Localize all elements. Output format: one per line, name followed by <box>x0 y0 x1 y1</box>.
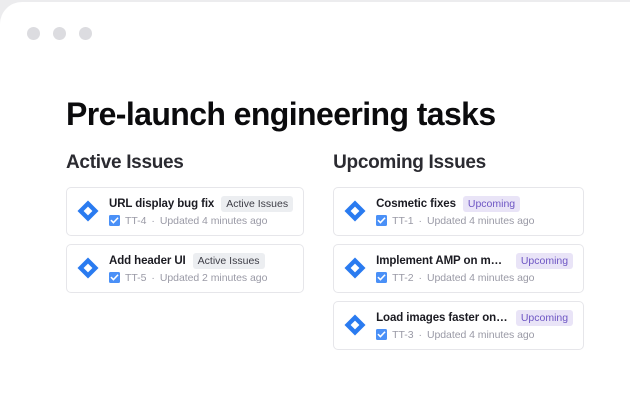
issue-card-header: Add header UIActive Issues <box>109 253 293 269</box>
checkbox-checked-icon[interactable] <box>376 215 387 226</box>
issue-card-meta: TT-3·Updated 4 minutes ago <box>376 329 573 341</box>
column-title: Active Issues <box>66 152 304 175</box>
issue-updated-time: Updated 2 minutes ago <box>160 272 268 284</box>
issue-card-body: Implement AMP on mobile...UpcomingTT-2·U… <box>376 253 573 284</box>
issue-key[interactable]: TT-4 <box>125 215 146 227</box>
window-titlebar <box>0 2 630 60</box>
issue-card-list: Cosmetic fixesUpcomingTT-1·Updated 4 min… <box>333 187 584 350</box>
issue-card-meta: TT-4·Updated 4 minutes ago <box>109 215 293 227</box>
meta-separator: · <box>418 329 421 341</box>
jira-issue-icon <box>343 313 367 337</box>
issue-card[interactable]: URL display bug fixActive IssuesTT-4·Upd… <box>66 187 304 236</box>
issue-card[interactable]: Load images faster on de...UpcomingTT-3·… <box>333 301 584 350</box>
checkbox-checked-icon[interactable] <box>376 329 387 340</box>
issue-card-body: Cosmetic fixesUpcomingTT-1·Updated 4 min… <box>376 196 573 227</box>
issue-card-header: Cosmetic fixesUpcoming <box>376 196 573 212</box>
issue-card-meta: TT-2·Updated 4 minutes ago <box>376 272 573 284</box>
issue-card-body: Add header UIActive IssuesTT-5·Updated 2… <box>109 253 293 284</box>
status-badge: Active Issues <box>193 253 265 269</box>
issue-updated-time: Updated 4 minutes ago <box>160 215 268 227</box>
issue-card[interactable]: Add header UIActive IssuesTT-5·Updated 2… <box>66 244 304 293</box>
issue-key[interactable]: TT-3 <box>392 329 413 341</box>
checkbox-checked-icon[interactable] <box>376 272 387 283</box>
status-badge: Upcoming <box>516 253 573 269</box>
issue-updated-time: Updated 4 minutes ago <box>427 329 535 341</box>
window-minimize-dot[interactable] <box>53 27 66 40</box>
issue-column: Active IssuesURL display bug fixActive I… <box>66 152 304 350</box>
issue-title[interactable]: Add header UI <box>109 255 186 267</box>
issue-updated-time: Updated 4 minutes ago <box>427 215 535 227</box>
issue-updated-time: Updated 4 minutes ago <box>427 272 535 284</box>
checkbox-checked-icon[interactable] <box>109 215 120 226</box>
status-badge: Upcoming <box>516 310 573 326</box>
jira-issue-icon <box>343 199 367 223</box>
jira-issue-icon <box>76 199 100 223</box>
issue-card-meta: TT-1·Updated 4 minutes ago <box>376 215 573 227</box>
issue-title[interactable]: Implement AMP on mobile... <box>376 255 509 267</box>
meta-separator: · <box>418 272 421 284</box>
issue-title[interactable]: Load images faster on de... <box>376 312 509 324</box>
issue-columns: Active IssuesURL display bug fixActive I… <box>66 152 566 350</box>
column-title: Upcoming Issues <box>333 152 584 175</box>
jira-issue-icon <box>343 256 367 280</box>
window-controls <box>27 27 92 40</box>
window-close-dot[interactable] <box>27 27 40 40</box>
issue-card-header: URL display bug fixActive Issues <box>109 196 293 212</box>
issue-key[interactable]: TT-5 <box>125 272 146 284</box>
issue-card-meta: TT-5·Updated 2 minutes ago <box>109 272 293 284</box>
issue-card-body: URL display bug fixActive IssuesTT-4·Upd… <box>109 196 293 227</box>
issue-card[interactable]: Implement AMP on mobile...UpcomingTT-2·U… <box>333 244 584 293</box>
checkbox-checked-icon[interactable] <box>109 272 120 283</box>
issue-card-body: Load images faster on de...UpcomingTT-3·… <box>376 310 573 341</box>
meta-separator: · <box>151 215 154 227</box>
issue-card-header: Implement AMP on mobile...Upcoming <box>376 253 573 269</box>
issue-key[interactable]: TT-2 <box>392 272 413 284</box>
app-window: Pre-launch engineering tasks Active Issu… <box>0 2 630 404</box>
window-maximize-dot[interactable] <box>79 27 92 40</box>
issue-key[interactable]: TT-1 <box>392 215 413 227</box>
issue-card[interactable]: Cosmetic fixesUpcomingTT-1·Updated 4 min… <box>333 187 584 236</box>
page-title: Pre-launch engineering tasks <box>66 95 496 133</box>
status-badge: Active Issues <box>221 196 293 212</box>
jira-issue-icon <box>76 256 100 280</box>
issue-title[interactable]: URL display bug fix <box>109 198 214 210</box>
meta-separator: · <box>151 272 154 284</box>
issue-card-header: Load images faster on de...Upcoming <box>376 310 573 326</box>
issue-column: Upcoming IssuesCosmetic fixesUpcomingTT-… <box>333 152 584 350</box>
meta-separator: · <box>418 215 421 227</box>
issue-card-list: URL display bug fixActive IssuesTT-4·Upd… <box>66 187 304 293</box>
issue-title[interactable]: Cosmetic fixes <box>376 198 456 210</box>
status-badge: Upcoming <box>463 196 520 212</box>
